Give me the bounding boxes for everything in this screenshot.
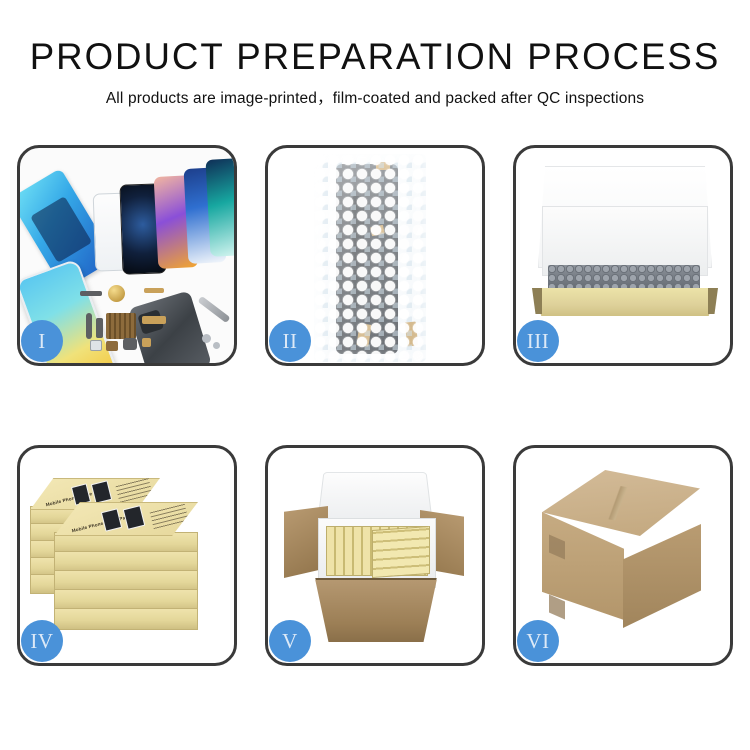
step-badge-1: I [21, 320, 63, 362]
step-badge-2: II [269, 320, 311, 362]
step-panel-5: V [265, 445, 485, 666]
box-side-left [532, 288, 542, 314]
phone-teal [205, 158, 234, 257]
step-badge-6: VI [517, 620, 559, 662]
flex-part-1 [80, 291, 102, 296]
small-component-2 [106, 341, 118, 351]
step-panel-3: III [513, 145, 733, 366]
screw-part-2 [213, 342, 220, 349]
small-component-4 [142, 338, 151, 347]
box-label-lines-front [149, 502, 189, 529]
infographic-page: PRODUCT PREPARATION PROCESS All products… [0, 0, 750, 750]
small-component-3 [123, 338, 137, 350]
page-subtitle: All products are image-printed，film-coat… [0, 86, 750, 108]
box-label-chip-4 [123, 505, 146, 530]
flex-part-5 [142, 316, 166, 324]
stacked-box-f5 [54, 608, 198, 630]
screw-part-1 [202, 334, 211, 343]
flex-part-3 [86, 313, 92, 339]
step-panel-2: II [265, 145, 485, 366]
step-panel-4: Mobile Phone Spare Parts Mobile Phone Sp… [17, 445, 237, 666]
step-panel-6: VI [513, 445, 733, 666]
box-label-chip-2 [91, 480, 112, 504]
step-badge-4: IV [21, 620, 63, 662]
carton-body [310, 580, 442, 642]
ic-chip-grid [106, 313, 136, 339]
packed-boxes-right [372, 526, 430, 578]
vibration-motor-part [108, 285, 125, 302]
kraft-box-base [532, 288, 718, 316]
flex-part-4 [96, 318, 103, 338]
flex-part-2 [144, 288, 164, 293]
small-component-1 [90, 340, 102, 351]
screwdriver-tool [198, 296, 231, 323]
step-badge-5: V [269, 620, 311, 662]
page-title: PRODUCT PREPARATION PROCESS [4, 38, 747, 77]
step-badge-3: III [517, 320, 559, 362]
box-label-chip-3 [101, 508, 122, 532]
process-steps-grid: I II [17, 145, 733, 676]
box-side-right [708, 288, 718, 314]
carton-side-face [623, 524, 701, 628]
bubble-film-overlay [314, 154, 426, 362]
box-label-lines-back [115, 477, 152, 503]
bubble-wrap-bag [314, 154, 426, 362]
step-panel-1: I [17, 145, 237, 366]
header: PRODUCT PREPARATION PROCESS All products… [0, 0, 750, 108]
